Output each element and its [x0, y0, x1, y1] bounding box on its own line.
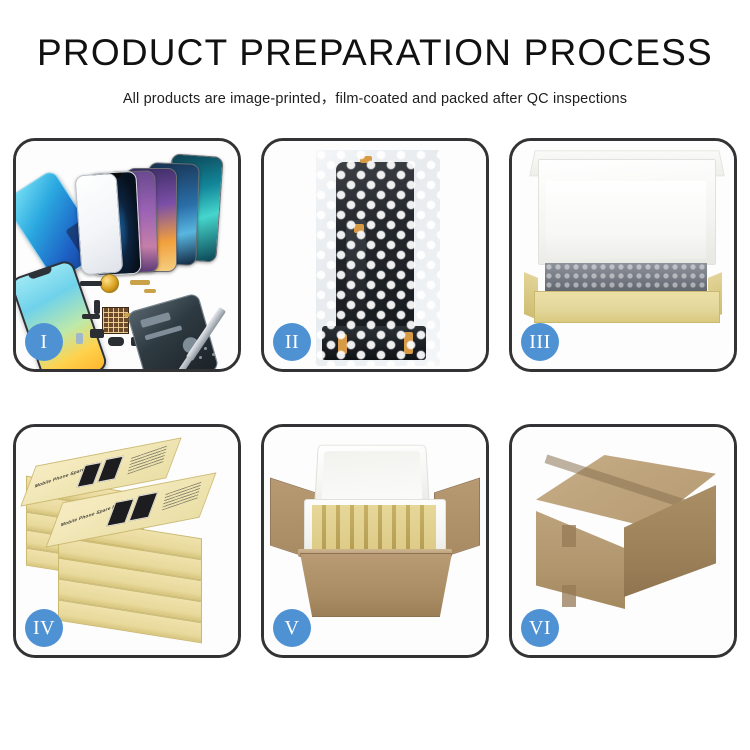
step-badge-3: III — [521, 323, 559, 361]
bubble-highlights — [316, 150, 440, 366]
step-badge-5: V — [273, 609, 311, 647]
small-module-part — [76, 333, 83, 344]
screen-protector-white — [75, 173, 124, 276]
step-panel-4[interactable]: Mobile Phone Spare Parts Mobile Phone Sp… — [13, 424, 241, 658]
carton-tape-upper — [562, 525, 576, 547]
chip-array-part — [102, 307, 129, 334]
step-panel-6[interactable]: VI — [509, 424, 737, 658]
step-panel-2[interactable]: II — [261, 138, 489, 372]
carton-tape-lower — [562, 585, 576, 607]
foam-box-lid — [314, 445, 430, 508]
step-badge-1: I — [25, 323, 63, 361]
page-subtitle: All products are image-printed，film-coat… — [0, 87, 750, 108]
inner-boxes-row — [312, 505, 436, 551]
box-print-screen — [77, 462, 102, 488]
screw-part — [199, 356, 202, 359]
box-print-text-block — [162, 482, 202, 511]
step-badge-4: IV — [25, 609, 63, 647]
box-print-screen — [97, 456, 124, 483]
gold-connector-part — [144, 289, 156, 293]
box-stack: Mobile Phone Spare Parts Mobile Phone Sp… — [20, 451, 238, 637]
gold-coil-part — [100, 274, 119, 293]
step-badge-6: VI — [521, 609, 559, 647]
box-print-screen — [129, 492, 159, 522]
flex-cable-part — [94, 300, 100, 314]
carton-body — [300, 553, 452, 617]
bubble-wrap-bag — [316, 150, 440, 366]
page-title: PRODUCT PREPARATION PROCESS — [0, 34, 750, 73]
step-panel-1[interactable]: I — [13, 138, 241, 372]
process-step-grid: I II III — [13, 138, 737, 658]
flex-cable-part — [108, 337, 124, 346]
flex-cable-part — [90, 329, 104, 338]
box-front-panel — [534, 291, 720, 323]
page-header: PRODUCT PREPARATION PROCESS All products… — [0, 0, 750, 108]
step-badge-2: II — [273, 323, 311, 361]
box-print-screen — [106, 498, 134, 526]
step-panel-5[interactable]: V — [261, 424, 489, 658]
white-foam-sheet — [546, 181, 706, 259]
screw-part — [212, 353, 215, 356]
carton-left-face — [536, 511, 625, 609]
flex-cable-part — [82, 314, 100, 319]
gold-connector-part — [130, 280, 150, 285]
step-panel-3[interactable]: III — [509, 138, 737, 372]
box-print-text-block — [127, 446, 167, 475]
flex-cable-part — [80, 281, 102, 286]
screw-part — [204, 347, 207, 350]
foam-lid-inner — [322, 451, 423, 500]
